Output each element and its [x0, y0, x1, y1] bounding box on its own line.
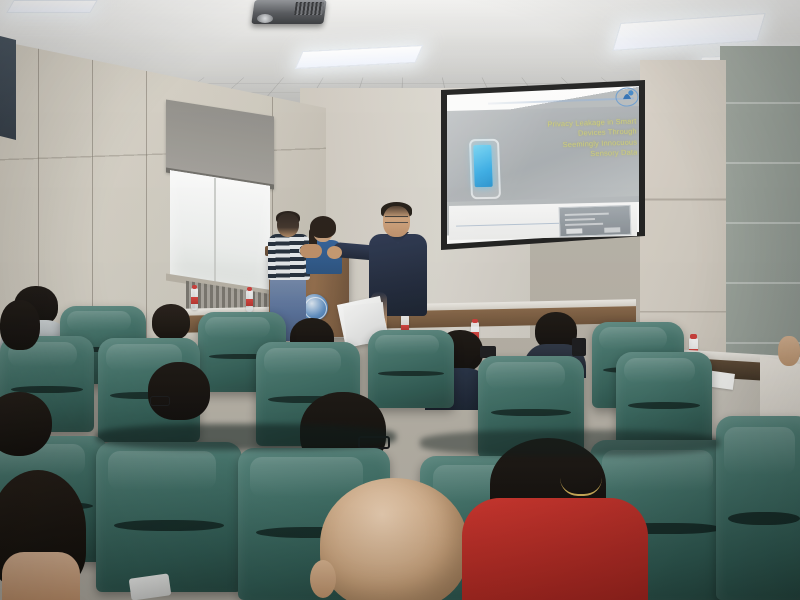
- audience-glasses-left: [148, 362, 210, 424]
- screen-glare: [447, 86, 639, 244]
- projector-vent: [294, 2, 324, 15]
- bottle-label: [191, 297, 198, 304]
- hand: [327, 246, 342, 259]
- bottle-label: [246, 299, 253, 306]
- smartphone[interactable]: [129, 573, 172, 600]
- eyeglasses: [150, 396, 170, 406]
- seat-row-shadow: [420, 430, 720, 456]
- bald-head: [320, 478, 468, 600]
- bottle-cap: [247, 287, 252, 291]
- hair: [152, 304, 190, 340]
- bottle-cap: [690, 334, 697, 339]
- projector-lens: [257, 14, 273, 23]
- hair: [310, 216, 336, 238]
- bottle-cap: [472, 319, 478, 323]
- conference-room-photo: Privacy Leakage in Smart Devices Through…: [0, 0, 800, 600]
- audience-head: [152, 304, 190, 340]
- wall-edge-dark: [0, 36, 16, 140]
- red-shirt: [462, 498, 648, 600]
- bottle-cap: [192, 285, 197, 289]
- wall-seam: [146, 68, 147, 356]
- auditorium-seat[interactable]: [716, 416, 800, 600]
- hair: [148, 362, 210, 420]
- crest-ring: [304, 297, 327, 320]
- audience-bald-foreground: [320, 478, 468, 600]
- hair: [0, 300, 40, 350]
- shoulders: [2, 552, 80, 600]
- handshake: [300, 244, 322, 258]
- window: [170, 170, 270, 294]
- seat-row-shadow: [96, 424, 396, 450]
- phone-device: [572, 338, 586, 356]
- auditorium-seat[interactable]: [96, 442, 242, 592]
- eyeglasses: [385, 216, 408, 223]
- ear: [310, 560, 336, 598]
- window-mullion: [214, 178, 216, 286]
- fluorescent-light-panel: [6, 0, 98, 13]
- audience-head: [0, 300, 40, 352]
- head: [277, 213, 299, 237]
- head: [778, 336, 800, 366]
